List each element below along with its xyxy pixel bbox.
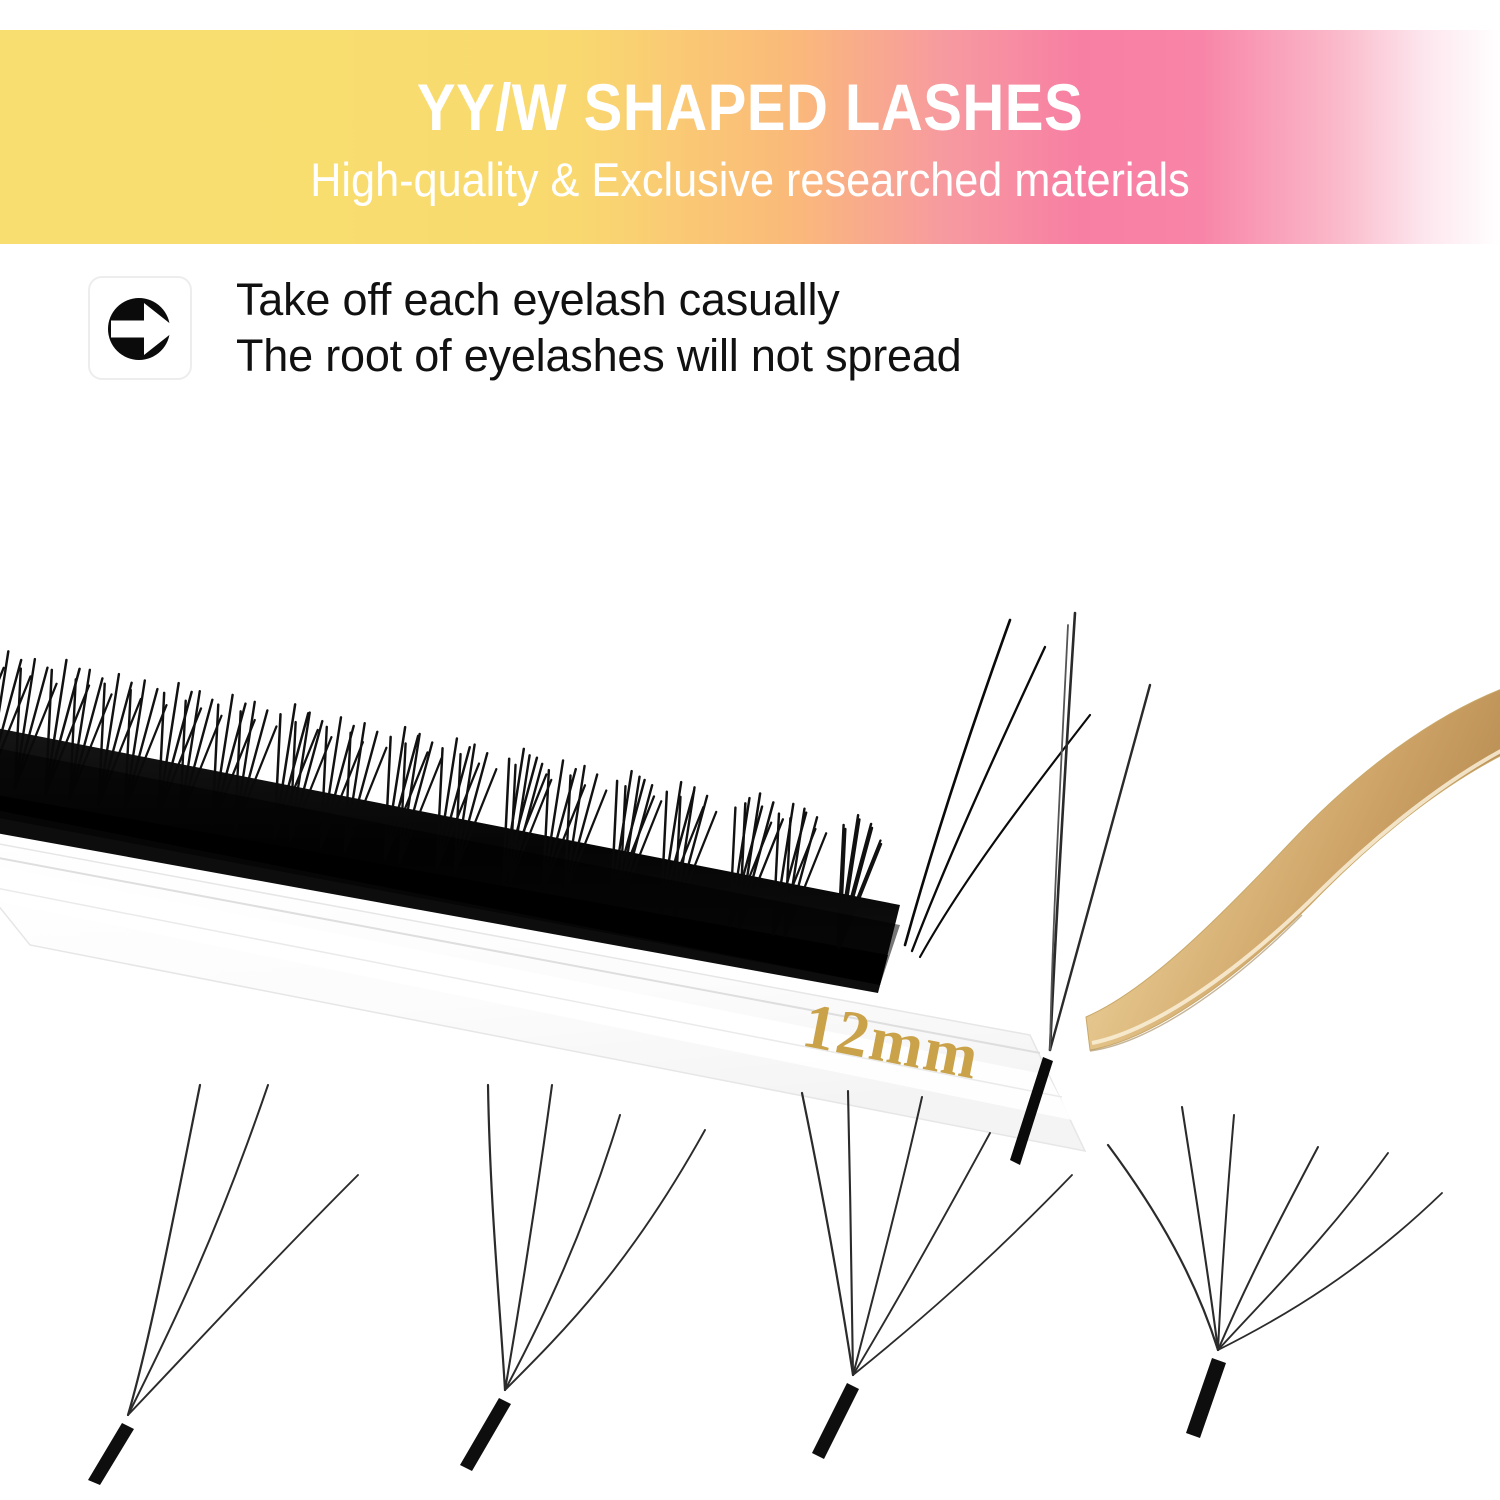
tweezer-tip <box>1086 685 1500 1051</box>
product-photo-illustration: 12mm <box>0 385 1500 1500</box>
instruction-badge <box>88 276 192 380</box>
fan-sample-4w <box>460 1085 705 1471</box>
header-banner: YY/W SHAPED LASHES High-quality & Exclus… <box>0 30 1500 244</box>
instruction-text-block: Take off each eyelash casually The root … <box>236 272 962 384</box>
instruction-line-2: The root of eyelashes will not spread <box>236 328 962 384</box>
lash-tip-strands <box>905 620 1090 957</box>
product-photo: 12mm <box>0 385 1500 1500</box>
circle-arrow-right-icon <box>101 289 181 369</box>
page-title: YY/W SHAPED LASHES <box>90 74 1410 140</box>
instruction-line-1: Take off each eyelash casually <box>236 272 962 328</box>
fan-sample-3w <box>88 1085 358 1485</box>
product-infographic-page: YY/W SHAPED LASHES High-quality & Exclus… <box>0 0 1500 1500</box>
fan-sample-5w <box>802 1091 1072 1459</box>
fan-sample-6w <box>1108 1107 1442 1438</box>
instruction-row: Take off each eyelash casually The root … <box>88 276 1188 391</box>
page-subtitle: High-quality & Exclusive researched mate… <box>60 155 1440 205</box>
